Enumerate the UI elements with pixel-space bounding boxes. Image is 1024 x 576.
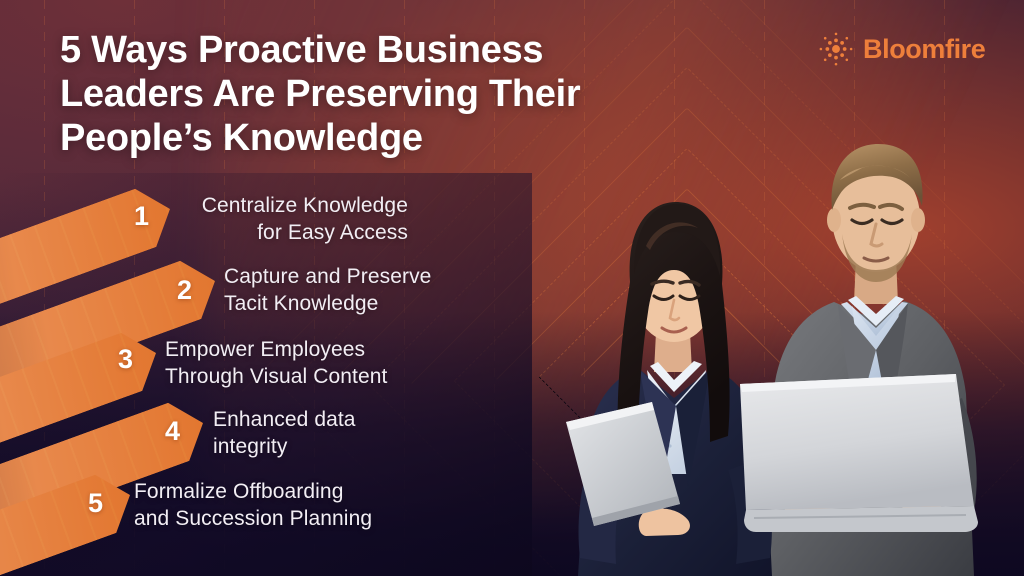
- laptop-device: [740, 374, 978, 532]
- list-item-3-text: Empower Employees Through Visual Content: [165, 336, 435, 391]
- hero-photo: [504, 106, 1024, 576]
- list-item-5-text: Formalize Offboarding and Succession Pla…: [134, 478, 414, 533]
- list-item-4-line-2: integrity: [213, 433, 433, 460]
- list-item-4-text: Enhanced data integrity: [213, 406, 433, 461]
- title-line-3: People’s Knowledge: [60, 116, 740, 160]
- list-item-1-line-2: for Easy Access: [180, 219, 408, 246]
- title-line-2: Leaders Are Preserving Their: [60, 72, 740, 116]
- list-item-1-text: Centralize Knowledge for Easy Access: [180, 192, 408, 247]
- list-item-5-line-2: and Succession Planning: [134, 505, 414, 532]
- number-label-5: 5: [88, 490, 103, 517]
- number-label-1: 1: [134, 203, 149, 230]
- list-item-4-line-1: Enhanced data: [213, 406, 433, 433]
- list-item-2-line-2: Tacit Knowledge: [224, 290, 474, 317]
- list-item-2-text: Capture and Preserve Tacit Knowledge: [224, 263, 474, 318]
- list-item-1-line-1: Centralize Knowledge: [180, 192, 408, 219]
- number-label-3: 3: [118, 346, 133, 373]
- number-label-2: 2: [177, 277, 192, 304]
- infographic-canvas: 5 Ways Proactive Business Leaders Are Pr…: [0, 0, 1024, 576]
- title-line-1: 5 Ways Proactive Business: [60, 28, 740, 72]
- bloomfire-logo[interactable]: Bloomfire: [818, 31, 985, 67]
- bloomfire-wordmark: Bloomfire: [863, 36, 985, 63]
- number-label-4: 4: [165, 418, 180, 445]
- list-item-2-line-1: Capture and Preserve: [224, 263, 474, 290]
- list-item-3-line-1: Empower Employees: [165, 336, 435, 363]
- list-item-5-line-1: Formalize Offboarding: [134, 478, 414, 505]
- list-item-3-line-2: Through Visual Content: [165, 363, 435, 390]
- bloomfire-starburst-icon: [818, 31, 854, 67]
- page-title: 5 Ways Proactive Business Leaders Are Pr…: [60, 28, 740, 160]
